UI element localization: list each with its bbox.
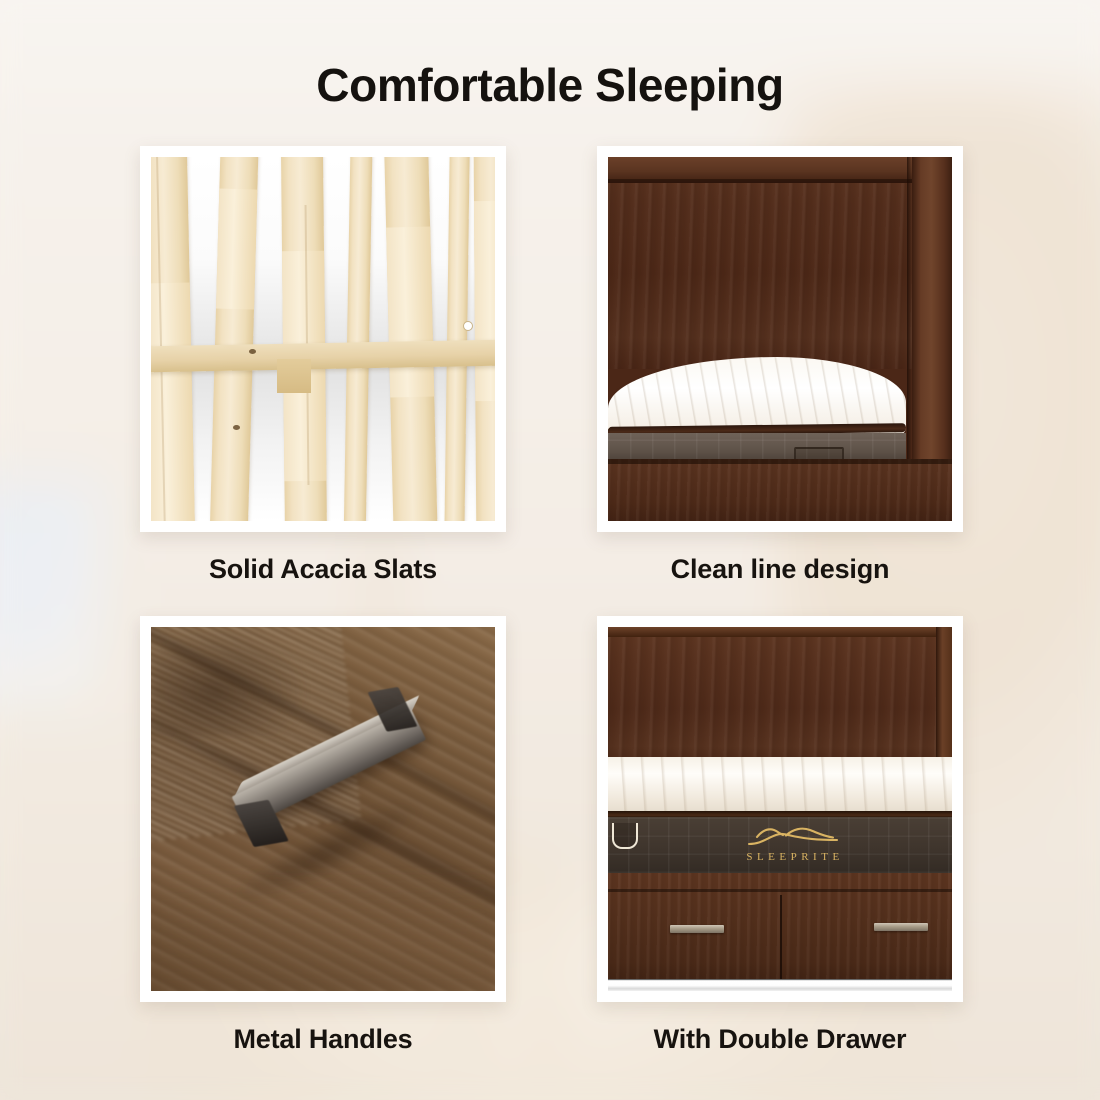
- headboard-panel: [608, 627, 952, 763]
- wood-slat-segment: [386, 226, 434, 397]
- photo-frame: [597, 146, 963, 532]
- wood-slat: [151, 157, 195, 521]
- wood-slat-segment: [151, 283, 195, 521]
- feature-card-metal-handles: Metal Handles: [140, 616, 506, 1055]
- photo-frame: [140, 146, 506, 532]
- headboard-post: [936, 627, 952, 763]
- wood-slat: [384, 157, 438, 521]
- wood-slat: [281, 157, 327, 521]
- feature-card-solid-acacia-slats: Solid Acacia Slats: [140, 146, 506, 585]
- photo-metal-handle: [151, 627, 495, 991]
- wood-knot: [249, 349, 256, 354]
- feature-caption: With Double Drawer: [597, 1024, 963, 1055]
- slat-support-block: [277, 359, 311, 393]
- feature-grid: Solid Acacia Slats: [0, 146, 1100, 1086]
- screw-hole: [463, 321, 473, 331]
- feature-card-clean-line-design: Clean line design: [597, 146, 963, 585]
- headboard-top-rail: [608, 627, 952, 637]
- bed-side-rail-edge: [608, 459, 952, 464]
- wood-slat: [444, 157, 470, 521]
- slats-scene: [151, 157, 495, 521]
- feature-caption: Clean line design: [597, 554, 963, 585]
- headboard-top-rail: [608, 157, 952, 183]
- photo-headboard-mattress: [608, 157, 952, 521]
- reclining-figure-icon: [745, 823, 841, 849]
- mattress-pillow-top: [608, 757, 952, 813]
- brand-logo: SLEEPRITE: [718, 823, 868, 863]
- drawer-pull[interactable]: [670, 925, 724, 933]
- wood-slat: [209, 157, 258, 521]
- photo-double-drawer: SLEEPRITE: [608, 627, 952, 991]
- promo-canvas: Comfortable Sleeping: [0, 0, 1100, 1100]
- feature-caption: Metal Handles: [140, 1024, 506, 1055]
- wood-slat-segment: [216, 189, 257, 310]
- photo-acacia-slats: [151, 157, 495, 521]
- foreground-blur: [151, 867, 495, 991]
- mattress-tag: [612, 823, 638, 849]
- wood-slat-segment: [474, 201, 495, 401]
- mattress-quilt-lines: [608, 757, 952, 813]
- headboard-panel: [608, 157, 952, 369]
- wood-knot: [233, 425, 240, 430]
- slat-support-rail: [151, 340, 495, 373]
- drawer-pull[interactable]: [874, 923, 928, 931]
- handle-scene: [151, 627, 495, 991]
- feature-caption: Solid Acacia Slats: [140, 554, 506, 585]
- drawer-top-edge: [608, 889, 952, 892]
- drawer-divider: [780, 895, 782, 983]
- feature-row: Solid Acacia Slats: [0, 146, 1100, 616]
- feature-card-with-double-drawer: SLEEPRITE With Double Drawer: [597, 616, 963, 1055]
- photo-frame: [140, 616, 506, 1002]
- page-title: Comfortable Sleeping: [0, 56, 1100, 114]
- photo-frame: SLEEPRITE: [597, 616, 963, 1002]
- floor-surface: [608, 979, 952, 991]
- drawer-scene: SLEEPRITE: [608, 627, 952, 991]
- bed-side-rail: [608, 459, 952, 521]
- headboard-scene: [608, 157, 952, 521]
- wood-slat: [344, 157, 373, 521]
- feature-row: Metal Handles: [0, 616, 1100, 1086]
- brand-name: SLEEPRITE: [718, 851, 868, 863]
